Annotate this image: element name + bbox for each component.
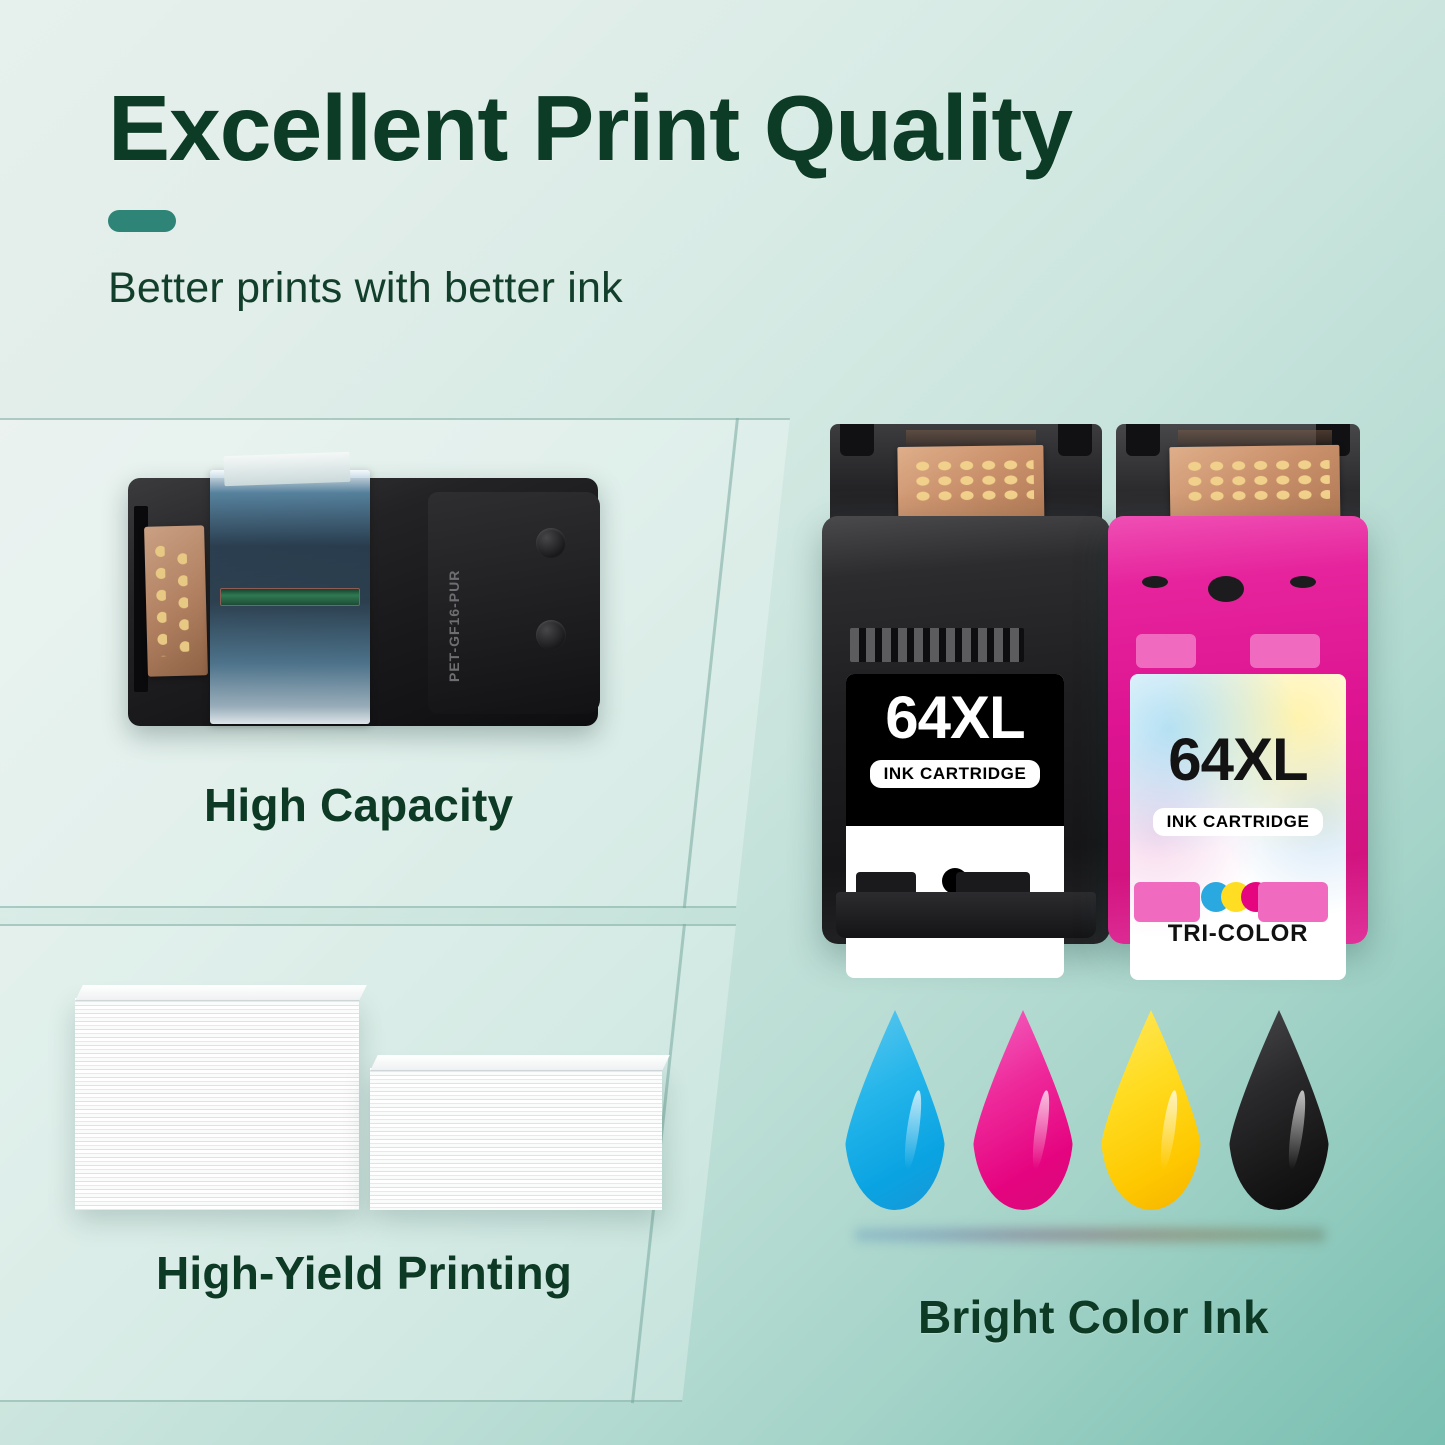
cartridge-tricolor-chip-ribbon [1178, 430, 1332, 446]
cartridge-black-notch-right [1058, 424, 1092, 456]
paper-stack-tall [75, 998, 359, 1210]
cartridge-tricolor-lug-bottom-left [1134, 882, 1200, 922]
cartridge-tricolor-lug-top-left [1136, 634, 1196, 668]
page-title: Excellent Print Quality [108, 80, 1308, 178]
header: Excellent Print Quality Better prints wi… [108, 80, 1308, 313]
printhead-pull-tab [224, 452, 351, 486]
magenta-ink-drop-icon [973, 1010, 1073, 1210]
page-subtitle: Better prints with better ink [108, 264, 1308, 313]
cartridge-black-foot [836, 892, 1096, 938]
cartridge-tricolor: Don't remove this chip 64XL INK CARTRIDG… [1108, 424, 1368, 944]
printhead-screw-top-icon [536, 528, 566, 558]
printhead-chip [144, 525, 208, 677]
cartridge-tricolor-type-label: INK CARTRIDGE [1153, 808, 1324, 836]
cyan-ink-drop-icon [845, 1010, 945, 1210]
cartridge-tricolor-lug-top-right [1250, 634, 1320, 668]
cartridge-tricolor-dimple-left [1142, 576, 1168, 588]
cartridge-tricolor-color-name: TRI-COLOR [1168, 920, 1309, 948]
accent-pill-divider [108, 210, 176, 232]
printhead-screw-bottom-icon [536, 620, 566, 650]
paper-stack-tall-body [75, 998, 359, 1210]
printhead-molding-code: PET-GF16-PUR [446, 522, 466, 682]
caption-high-yield: High-Yield Printing [156, 1246, 572, 1300]
printhead-nozzle-strip [220, 588, 360, 606]
cartridge-tricolor-notch-left [1126, 424, 1160, 456]
chip-contact-pads-icon [1184, 457, 1331, 503]
ink-drops-group [845, 1010, 1335, 1225]
cartridge-tricolor-dimple-center [1208, 576, 1244, 602]
cartridge-tricolor-label: 64XL INK CARTRIDGE TRI-COLOR [1130, 674, 1346, 980]
chip-contact-pads-icon [912, 457, 1035, 503]
cartridge-tricolor-lug-bottom-right [1258, 882, 1328, 922]
yellow-ink-drop-icon [1101, 1010, 1201, 1210]
caption-high-capacity: High Capacity [204, 778, 513, 832]
cartridge-tricolor-dimple-right [1290, 576, 1316, 588]
ink-drops-shadow [855, 1222, 1325, 1248]
paper-stack-short-top [370, 1055, 670, 1071]
infographic-canvas: Excellent Print Quality Better prints wi… [0, 0, 1445, 1445]
cartridge-black-chip-ribbon [906, 430, 1036, 446]
cartridge-black-shell: 64XL INK CARTRIDGE BLACK [822, 516, 1110, 944]
paper-stack-short [370, 1068, 662, 1210]
cartridge-black: Don't remove this chip 64XL INK CARTRIDG… [822, 424, 1110, 944]
paper-stack-short-body [370, 1068, 662, 1210]
cartridge-black-type-label: INK CARTRIDGE [870, 760, 1041, 788]
cartridge-black-vent-ribs [850, 628, 1024, 662]
black-ink-drop-icon [1229, 1010, 1329, 1210]
cartridge-black-label-top: 64XL INK CARTRIDGE [846, 674, 1064, 826]
printhead-photo: PET-GF16-PUR [128, 470, 598, 730]
paper-stack-tall-top [75, 985, 367, 1001]
cartridge-black-model: 64XL [885, 688, 1024, 748]
caption-bright-color: Bright Color Ink [918, 1290, 1269, 1344]
cartridge-tricolor-model: 64XL [1168, 730, 1307, 790]
cartridge-black-notch-left [840, 424, 874, 456]
cartridge-tricolor-shell: 64XL INK CARTRIDGE TRI-COLOR [1108, 516, 1368, 944]
